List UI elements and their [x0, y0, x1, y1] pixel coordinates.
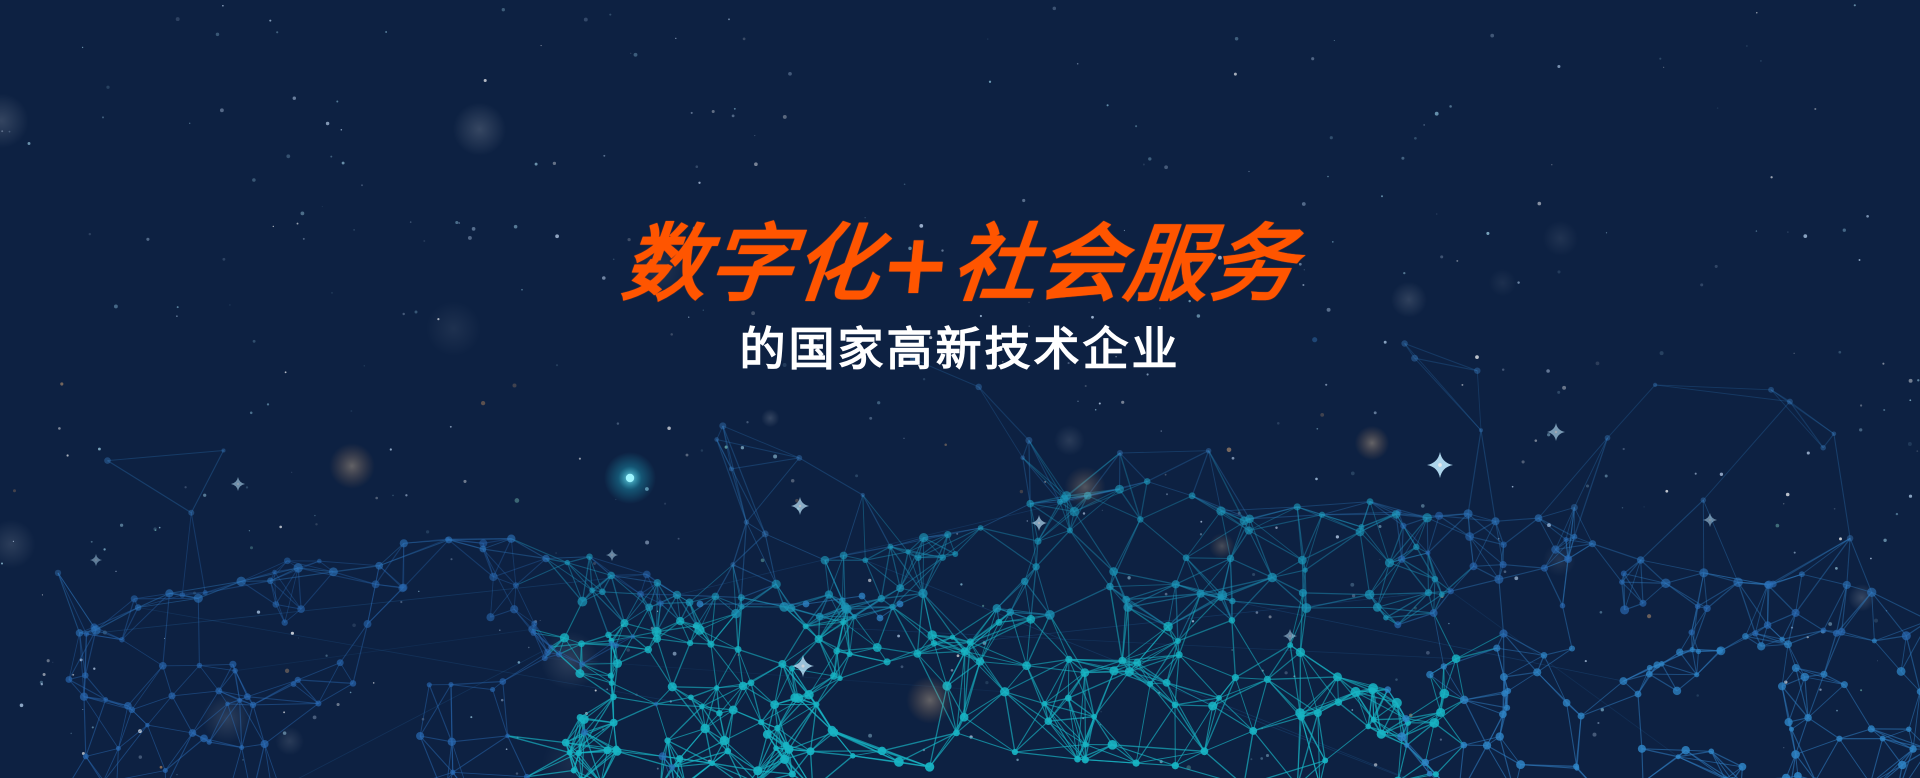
banner-headline: 数字化+社会服务 — [618, 222, 1301, 308]
glow-accent-layer — [0, 0, 1920, 778]
banner-subline: 的国家高新技术企业 — [0, 324, 1920, 375]
banner-text-block: 数字化+社会服务 的国家高新技术企业 — [0, 222, 1920, 374]
hero-banner: 数字化+社会服务 的国家高新技术企业 — [0, 0, 1920, 778]
